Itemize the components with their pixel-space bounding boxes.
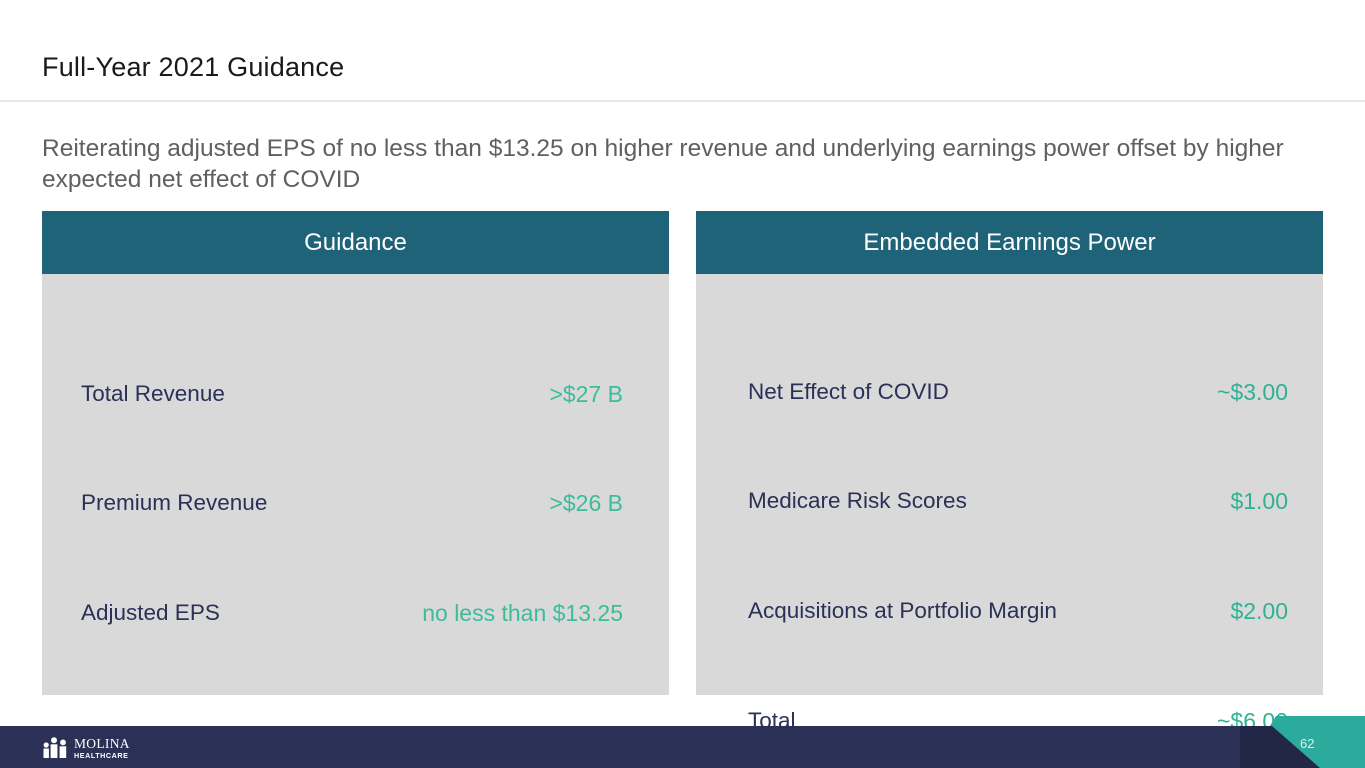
row-value: $1.00 [1230,488,1288,515]
title-divider [0,100,1365,102]
slide-subtitle: Reiterating adjusted EPS of no less than… [42,133,1304,195]
row-value: ~$3.00 [1217,379,1288,406]
page-title: Full-Year 2021 Guidance [42,52,344,83]
row-label: Acquisitions at Portfolio Margin [748,598,1057,624]
row-value: no less than $13.25 [422,600,623,627]
embedded-earnings-power-panel: Embedded Earnings Power Net Effect of CO… [696,211,1323,695]
guidance-panel-title: Guidance [304,229,407,257]
row-value: >$26 B [549,490,623,517]
logo-name: MOLINA [74,737,130,751]
table-row: Medicare Risk Scores $1.00 [696,484,1323,518]
guidance-panel-header: Guidance [42,211,669,274]
row-label: Total Revenue [81,381,225,407]
table-row: Total Revenue >$27 B [42,377,669,411]
embedded-earnings-power-panel-title: Embedded Earnings Power [863,229,1155,257]
page-number: 62 [1300,736,1340,751]
guidance-panel-body: Total Revenue >$27 B Premium Revenue >$2… [42,274,669,695]
row-label: Medicare Risk Scores [748,488,967,514]
table-row: Premium Revenue >$26 B [42,486,669,520]
table-row: Adjusted EPS no less than $13.25 [42,596,669,630]
molina-people-icon [42,737,71,759]
logo-subtitle: HEALTHCARE [74,752,130,759]
row-label: Premium Revenue [81,490,267,516]
embedded-earnings-power-panel-header: Embedded Earnings Power [696,211,1323,274]
row-label: Adjusted EPS [81,600,220,626]
table-row: Net Effect of COVID ~$3.00 [696,375,1323,409]
molina-wordmark: MOLINA HEALTHCARE [74,737,130,759]
row-label: Net Effect of COVID [748,379,949,405]
embedded-earnings-power-panel-body: Net Effect of COVID ~$3.00 Medicare Risk… [696,274,1323,695]
guidance-panel: Guidance Total Revenue >$27 B Premium Re… [42,211,669,695]
molina-healthcare-logo: MOLINA HEALTHCARE [42,736,130,760]
row-value: $2.00 [1230,598,1288,625]
table-row: Acquisitions at Portfolio Margin $2.00 [696,594,1323,628]
footer-bar [0,726,1365,768]
row-value: >$27 B [549,381,623,408]
